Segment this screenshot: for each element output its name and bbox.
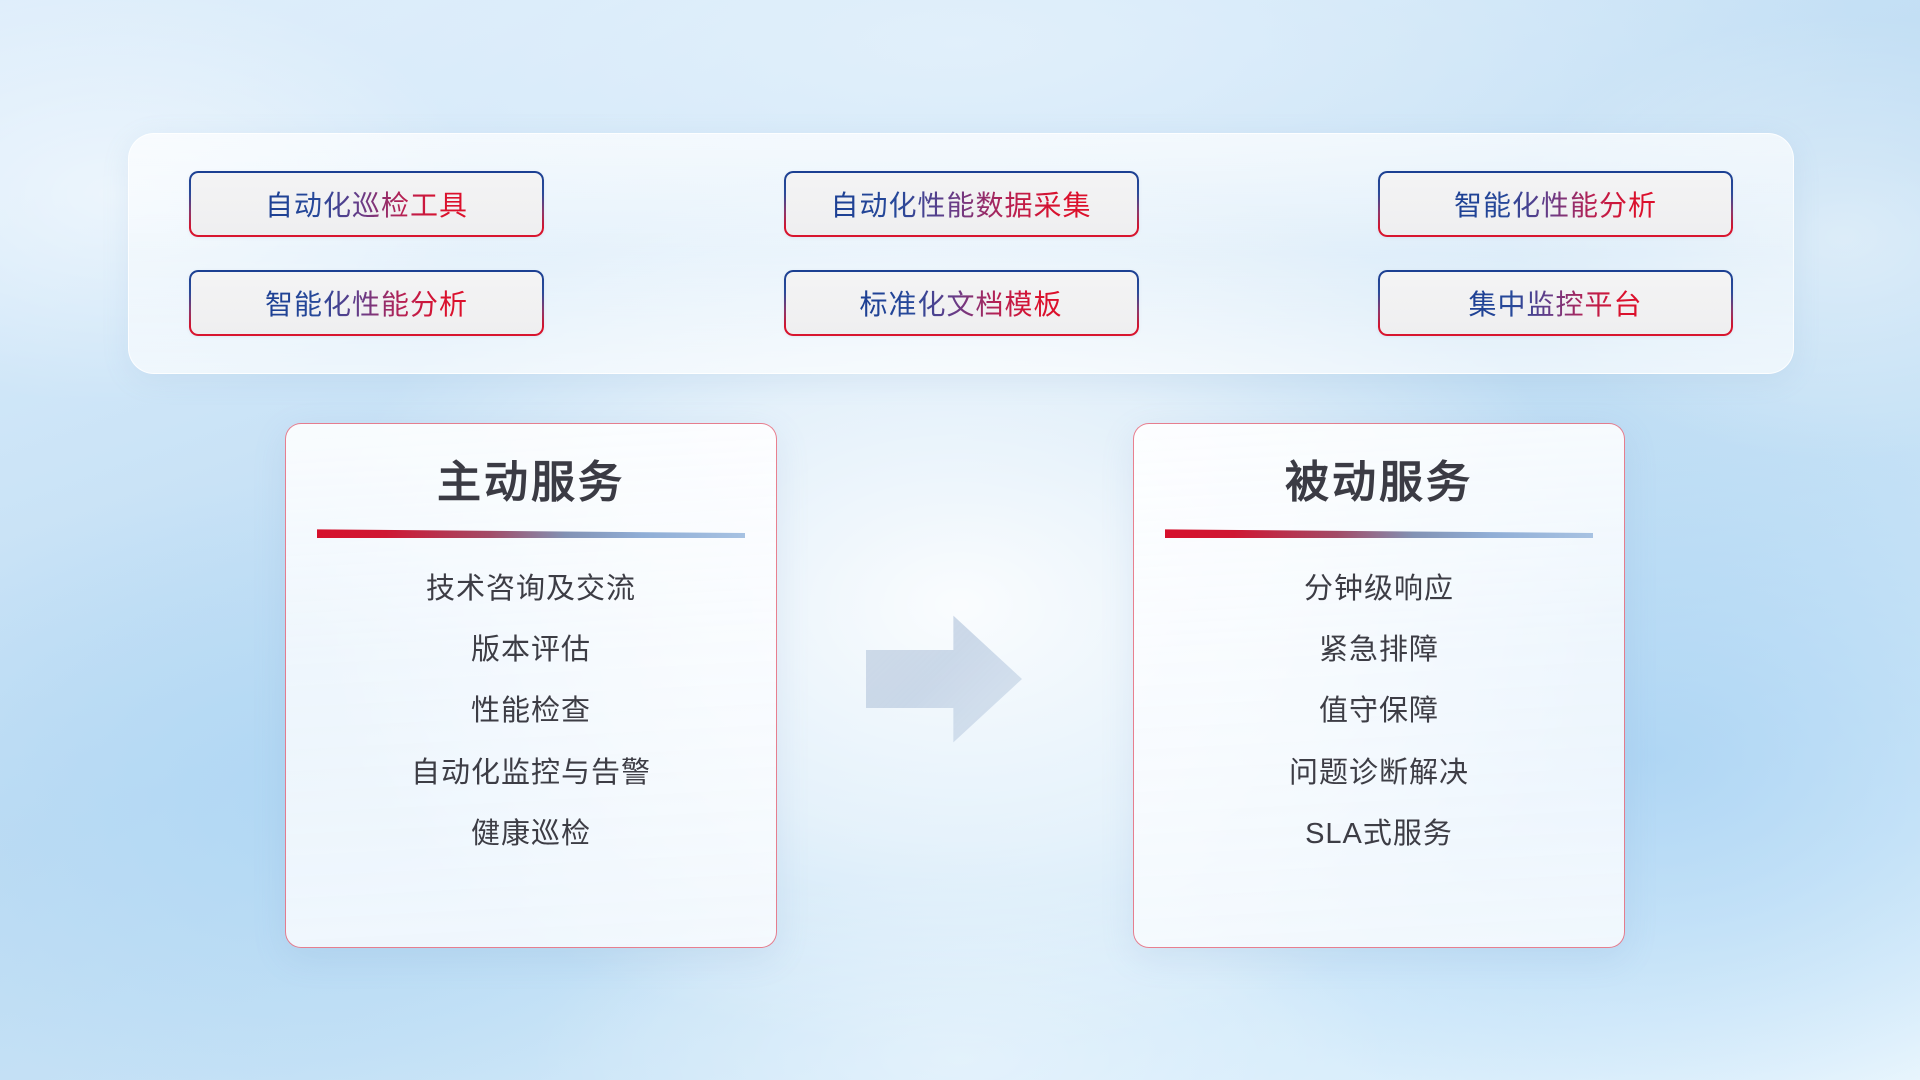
card-item-list: 技术咨询及交流 版本评估 性能检查 自动化监控与告警 健康巡检 (286, 568, 776, 854)
card-item-list: 分钟级响应 紧急排障 值守保障 问题诊断解决 SLA式服务 (1134, 568, 1624, 854)
capability-chip-intelligent-performance-analysis-2[interactable]: 智能化性能分析 (189, 270, 544, 336)
capability-chip-centralized-monitoring-platform[interactable]: 集中监控平台 (1378, 270, 1733, 336)
list-item[interactable]: 紧急排障 (1319, 629, 1439, 671)
capability-chip-automated-inspection-tool[interactable]: 自动化巡检工具 (189, 171, 544, 237)
list-item[interactable]: 性能检查 (471, 690, 591, 732)
list-item[interactable]: 自动化监控与告警 (411, 752, 651, 794)
list-item[interactable]: 问题诊断解决 (1289, 752, 1469, 794)
service-card-reactive: 被动服务 分钟级响应 紧急排障 值守保障 问题诊断解决 SLA式服务 (1133, 423, 1625, 948)
capability-panel: 自动化巡检工具 自动化性能数据采集 智能化性能分析 智能化性能分析 标准化文档模… (128, 133, 1794, 374)
capability-chip-label: 智能化性能分析 (1454, 184, 1657, 224)
card-title-divider (317, 529, 745, 538)
list-item[interactable]: 版本评估 (471, 629, 591, 671)
capability-row-1: 自动化巡检工具 自动化性能数据采集 智能化性能分析 (189, 171, 1733, 237)
capability-chip-label: 标准化文档模板 (859, 283, 1062, 323)
list-item[interactable]: 技术咨询及交流 (426, 568, 636, 610)
capability-chip-automated-performance-data-collection[interactable]: 自动化性能数据采集 (784, 171, 1139, 237)
card-title-divider (1165, 529, 1593, 538)
card-title: 主动服务 (437, 459, 625, 507)
capability-chip-label: 智能化性能分析 (265, 283, 468, 323)
capability-chip-label: 自动化巡检工具 (265, 184, 468, 224)
capability-chip-label: 自动化性能数据采集 (830, 184, 1091, 224)
capability-chip-standardized-document-template[interactable]: 标准化文档模板 (784, 270, 1139, 336)
capability-chip-intelligent-performance-analysis[interactable]: 智能化性能分析 (1378, 171, 1733, 237)
list-item[interactable]: SLA式服务 (1305, 813, 1453, 855)
list-item[interactable]: 值守保障 (1319, 690, 1439, 732)
capability-chip-label: 集中监控平台 (1468, 283, 1642, 323)
service-card-proactive: 主动服务 技术咨询及交流 版本评估 性能检查 自动化监控与告警 健康巡检 (285, 423, 777, 948)
capability-row-2: 智能化性能分析 标准化文档模板 集中监控平台 (189, 270, 1733, 336)
list-item[interactable]: 分钟级响应 (1304, 568, 1454, 610)
card-title: 被动服务 (1285, 459, 1473, 507)
list-item[interactable]: 健康巡检 (471, 813, 591, 855)
